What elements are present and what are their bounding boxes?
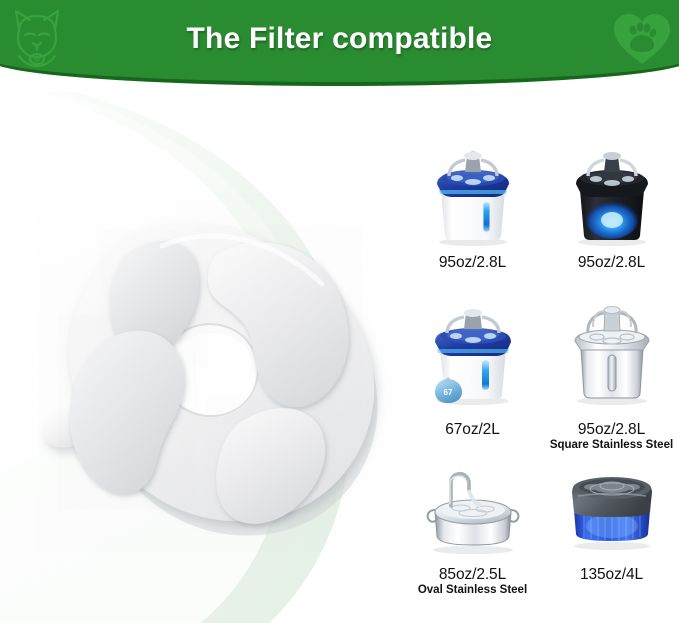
product-capacity: 95oz/2.8L xyxy=(578,421,645,438)
fountain-white-95oz-image xyxy=(421,140,525,248)
product-cell: 95oz/2.8L Square Stainless Steel xyxy=(544,295,679,460)
filter-pad xyxy=(12,180,412,560)
compatible-fountain-grid: 95oz/2.8L xyxy=(405,140,679,620)
product-cell: 95oz/2.8L xyxy=(405,140,540,295)
page-title: The Filter compatible xyxy=(0,22,679,56)
svg-text:67: 67 xyxy=(443,388,452,397)
header-banner: The Filter compatible xyxy=(0,0,679,92)
product-material: Square Stainless Steel xyxy=(550,439,673,453)
fountain-white-67oz-image: 67 xyxy=(418,295,528,415)
product-image-page: The Filter compatible xyxy=(0,0,679,623)
product-capacity: 67oz/2L xyxy=(445,421,499,438)
fountain-square-steel-95oz-image xyxy=(557,295,667,415)
product-material: Oval Stainless Steel xyxy=(418,584,527,598)
fountain-oval-steel-85oz-image xyxy=(415,460,531,560)
product-capacity: 135oz/4L xyxy=(580,566,643,583)
product-cell: 95oz/2.8L xyxy=(544,140,679,295)
product-capacity: 95oz/2.8L xyxy=(439,254,506,271)
product-cell: 85oz/2.5L Oval Stainless Steel xyxy=(405,460,540,608)
product-capacity: 85oz/2.5L xyxy=(439,566,506,583)
product-capacity: 95oz/2.8L xyxy=(578,254,645,271)
fountain-gray-blue-135oz-image xyxy=(554,460,670,560)
product-cell: 67 67oz/2L xyxy=(405,295,540,460)
fountain-black-95oz-image xyxy=(560,140,664,248)
product-cell: 135oz/4L xyxy=(544,460,679,608)
